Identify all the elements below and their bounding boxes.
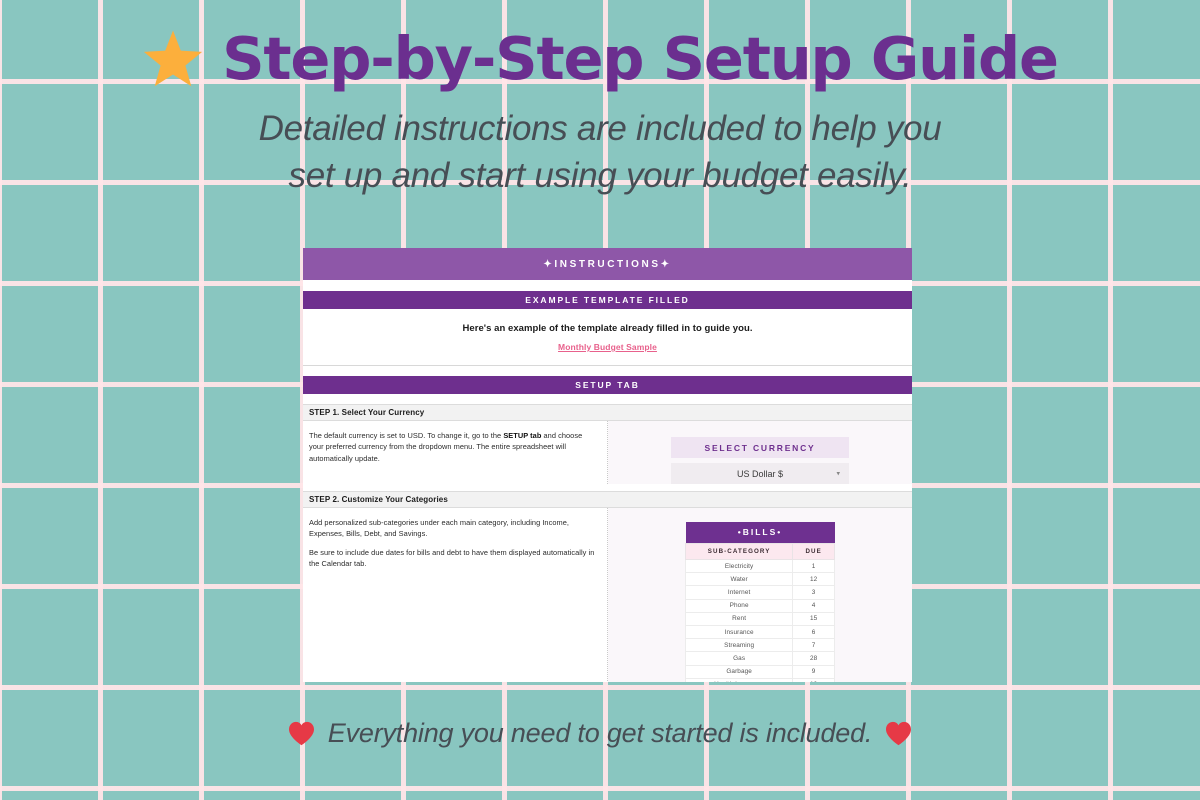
title-row: Step-by-Step Setup Guide xyxy=(0,0,1200,90)
bill-due-cell: 4 xyxy=(793,599,835,612)
subtitle-line-1: Detailed instructions are included to he… xyxy=(0,106,1200,153)
hero-section: Step-by-Step Setup Guide Detailed instru… xyxy=(0,0,1200,199)
bill-due-cell: 28 xyxy=(793,652,835,665)
bill-due-cell: 10 xyxy=(793,678,835,682)
example-template-bar: EXAMPLE TEMPLATE FILLED xyxy=(303,291,912,309)
step-2-row: Add personalized sub-categories under ea… xyxy=(303,508,912,682)
bill-due-cell: 12 xyxy=(793,573,835,586)
bill-sub-category-cell: Rent xyxy=(686,612,793,625)
star-icon xyxy=(142,28,204,90)
bill-due-cell: 3 xyxy=(793,586,835,599)
spacer xyxy=(303,484,912,491)
bills-table-title: •BILLS• xyxy=(686,522,835,544)
step-1-description-cell: The default currency is set to USD. To c… xyxy=(303,421,608,484)
bill-sub-category-cell: Streaming xyxy=(686,639,793,652)
select-currency-header: SELECT CURRENCY xyxy=(671,437,849,458)
bill-sub-category-cell: Water xyxy=(686,573,793,586)
setup-tab-emphasis: SETUP tab xyxy=(503,431,541,440)
currency-dropdown[interactable]: US Dollar $ ▾ xyxy=(671,463,849,484)
page-title: Step-by-Step Setup Guide xyxy=(222,28,1058,90)
bill-sub-category-cell: Insurance xyxy=(686,625,793,638)
currency-widget: SELECT CURRENCY US Dollar $ ▾ xyxy=(608,421,912,484)
spacer xyxy=(303,366,912,376)
column-header-sub-category: SUB-CATEGORY xyxy=(686,544,793,560)
spreadsheet-panel: ✦INSTRUCTIONS✦ EXAMPLE TEMPLATE FILLED H… xyxy=(303,248,912,682)
currency-dropdown-value: US Dollar $ xyxy=(737,469,783,479)
bill-sub-category-cell: Garbage xyxy=(686,665,793,678)
table-row: Gas28 xyxy=(686,652,835,665)
spacer xyxy=(303,280,912,291)
example-template-body: Here's an example of the template alread… xyxy=(303,309,912,365)
spacer xyxy=(303,394,912,404)
step-1-text-a: The default currency is set to USD. To c… xyxy=(309,431,503,440)
chevron-down-icon: ▾ xyxy=(836,470,840,477)
step-2-label: STEP 2. Customize Your Categories xyxy=(303,491,912,508)
page-subtitle: Detailed instructions are included to he… xyxy=(0,106,1200,199)
step-1-widget-cell: SELECT CURRENCY US Dollar $ ▾ xyxy=(608,421,912,484)
footer-section: Everything you need to get started is in… xyxy=(0,718,1200,749)
step-1-label: STEP 1. Select Your Currency xyxy=(303,404,912,421)
setup-tab-bar: SETUP TAB xyxy=(303,376,912,394)
bill-sub-category-cell: Phone xyxy=(686,599,793,612)
example-description: Here's an example of the template alread… xyxy=(303,323,912,334)
bill-sub-category-cell: Gas xyxy=(686,652,793,665)
step-2-paragraph-1: Add personalized sub-categories under ea… xyxy=(309,517,597,540)
bills-table-title-row: •BILLS• xyxy=(686,522,835,544)
table-row: Electricity1 xyxy=(686,560,835,573)
bill-due-cell: 9 xyxy=(793,665,835,678)
bills-table-header-row: SUB-CATEGORY DUE xyxy=(686,544,835,560)
subtitle-line-2: set up and start using your budget easil… xyxy=(0,153,1200,200)
bill-due-cell: 15 xyxy=(793,612,835,625)
table-row: Streaming7 xyxy=(686,639,835,652)
bill-sub-category-cell: Electricity xyxy=(686,560,793,573)
bill-due-cell: 6 xyxy=(793,625,835,638)
bills-table: •BILLS• SUB-CATEGORY DUE Electricity1Wat… xyxy=(685,522,835,682)
bill-due-cell: 1 xyxy=(793,560,835,573)
bills-table-wrapper: •BILLS• SUB-CATEGORY DUE Electricity1Wat… xyxy=(608,508,912,682)
step-2-paragraph-2: Be sure to include due dates for bills a… xyxy=(309,547,597,570)
table-row: Internet3 xyxy=(686,586,835,599)
heart-icon xyxy=(288,721,315,746)
bill-sub-category-cell: Health Insurance xyxy=(686,678,793,682)
heart-icon xyxy=(885,721,912,746)
table-row: Rent15 xyxy=(686,612,835,625)
step-2-description-cell: Add personalized sub-categories under ea… xyxy=(303,508,608,682)
column-header-due: DUE xyxy=(793,544,835,560)
table-row: Health Insurance10 xyxy=(686,678,835,682)
step-2-widget-cell: •BILLS• SUB-CATEGORY DUE Electricity1Wat… xyxy=(608,508,912,682)
step-1-text: The default currency is set to USD. To c… xyxy=(309,430,597,464)
bills-table-body: Electricity1Water12Internet3Phone4Rent15… xyxy=(686,560,835,683)
table-row: Phone4 xyxy=(686,599,835,612)
monthly-budget-sample-link[interactable]: Monthly Budget Sample xyxy=(558,342,657,352)
table-row: Water12 xyxy=(686,573,835,586)
footer-text: Everything you need to get started is in… xyxy=(328,718,872,749)
bill-sub-category-cell: Internet xyxy=(686,586,793,599)
table-row: Insurance6 xyxy=(686,625,835,638)
bill-due-cell: 7 xyxy=(793,639,835,652)
step-1-row: The default currency is set to USD. To c… xyxy=(303,421,912,484)
table-row: Garbage9 xyxy=(686,665,835,678)
instructions-header-bar: ✦INSTRUCTIONS✦ xyxy=(303,248,912,280)
